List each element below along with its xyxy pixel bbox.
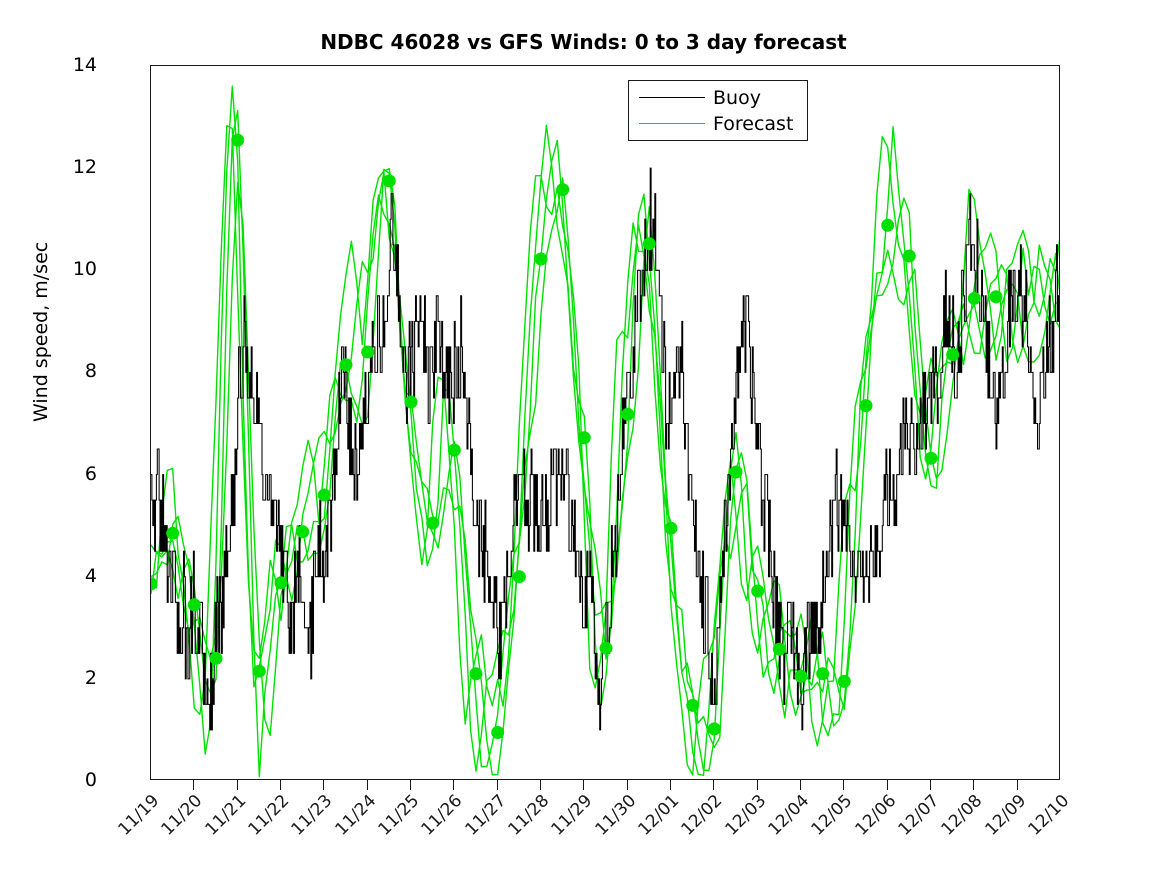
y-tick-label: 2 bbox=[37, 669, 97, 688]
chart-page: NDBC 46028 vs GFS Winds: 0 to 3 day fore… bbox=[0, 0, 1167, 875]
forecast-marker-dot bbox=[708, 722, 721, 735]
y-tick-label: 8 bbox=[37, 362, 97, 381]
x-tick-label: 12/04 bbox=[758, 791, 813, 846]
legend-label-buoy: Buoy bbox=[713, 85, 761, 111]
x-tick-mark bbox=[583, 780, 584, 790]
forecast-marker-dot bbox=[881, 219, 894, 232]
forecast-marker-dot bbox=[816, 667, 829, 680]
x-tick-label: 11/30 bbox=[585, 791, 640, 846]
forecast-marker-dot bbox=[838, 675, 851, 688]
forecast-marker-dot bbox=[621, 408, 634, 421]
forecast-marker-dot bbox=[340, 358, 353, 371]
x-tick-mark bbox=[627, 780, 628, 790]
forecast-marker-dot bbox=[686, 699, 699, 712]
x-tick-mark bbox=[237, 780, 238, 790]
forecast-marker-dot bbox=[491, 726, 504, 739]
x-tick-mark bbox=[843, 780, 844, 790]
x-tick-label: 12/10 bbox=[1018, 791, 1073, 846]
forecast-marker-dot bbox=[946, 348, 959, 361]
y-tick-label: 14 bbox=[37, 56, 97, 75]
forecast-marker-dot bbox=[730, 466, 743, 479]
x-tick-label: 11/19 bbox=[108, 791, 163, 846]
x-tick-mark bbox=[453, 780, 454, 790]
forecast-marker-dot bbox=[643, 237, 656, 250]
x-tick-label: 11/29 bbox=[541, 791, 596, 846]
legend-item-buoy: Buoy bbox=[629, 85, 809, 111]
y-tick-label: 0 bbox=[37, 771, 97, 790]
y-tick-label: 10 bbox=[37, 260, 97, 279]
x-tick-label: 12/05 bbox=[801, 791, 856, 846]
forecast-marker-dot bbox=[405, 396, 418, 409]
x-tick-mark bbox=[1017, 780, 1018, 790]
x-tick-label: 11/21 bbox=[195, 791, 250, 846]
forecast-marker-dot bbox=[903, 250, 916, 263]
forecast-marker-dot bbox=[556, 183, 569, 196]
forecast-marker-dot bbox=[231, 134, 244, 147]
x-tick-label: 11/26 bbox=[411, 791, 466, 846]
x-tick-mark bbox=[497, 780, 498, 790]
x-tick-mark bbox=[800, 780, 801, 790]
x-tick-mark bbox=[410, 780, 411, 790]
forecast-marker-dot bbox=[361, 346, 374, 359]
x-tick-label: 12/08 bbox=[931, 791, 986, 846]
forecast-marker-dot bbox=[275, 576, 288, 589]
x-tick-mark bbox=[930, 780, 931, 790]
x-tick-label: 12/07 bbox=[888, 791, 943, 846]
y-tick-label: 12 bbox=[37, 158, 97, 177]
x-tick-mark bbox=[280, 780, 281, 790]
forecast-marker-dot bbox=[968, 292, 981, 305]
legend-label-forecast: Forecast bbox=[713, 111, 793, 137]
x-tick-mark bbox=[973, 780, 974, 790]
x-tick-mark bbox=[887, 780, 888, 790]
x-tick-mark bbox=[757, 780, 758, 790]
x-tick-label: 11/27 bbox=[455, 791, 510, 846]
forecast-marker-dot bbox=[535, 253, 548, 266]
x-tick-mark bbox=[670, 780, 671, 790]
forecast-marker-dot bbox=[513, 570, 526, 583]
plot-svg bbox=[151, 66, 1060, 780]
x-tick-label: 12/09 bbox=[975, 791, 1030, 846]
x-tick-mark bbox=[193, 780, 194, 790]
forecast-marker-dot bbox=[600, 642, 613, 655]
forecast-marker-dot bbox=[426, 517, 439, 530]
x-tick-label: 11/23 bbox=[281, 791, 336, 846]
plot-area bbox=[150, 65, 1060, 780]
forecast-marker-dot bbox=[448, 444, 461, 457]
forecast-marker-dot bbox=[578, 431, 591, 444]
forecast-marker-dot bbox=[470, 667, 483, 680]
x-tick-label: 11/24 bbox=[325, 791, 380, 846]
forecast-lines bbox=[151, 86, 1060, 776]
forecast-marker-dot bbox=[990, 290, 1003, 303]
forecast-marker-dot bbox=[296, 525, 309, 538]
x-tick-mark bbox=[323, 780, 324, 790]
forecast-marker-dot bbox=[383, 174, 396, 187]
x-tick-label: 12/03 bbox=[715, 791, 770, 846]
x-tick-mark bbox=[540, 780, 541, 790]
x-tick-label: 11/20 bbox=[151, 791, 206, 846]
x-tick-label: 11/28 bbox=[498, 791, 553, 846]
forecast-marker-dot bbox=[751, 585, 764, 598]
x-tick-label: 11/25 bbox=[368, 791, 423, 846]
forecast-marker-dot bbox=[860, 399, 873, 412]
forecast-marker-dot bbox=[665, 522, 678, 535]
forecast-marker-dot bbox=[773, 643, 786, 656]
legend-swatch-buoy bbox=[639, 97, 705, 98]
x-tick-label: 12/06 bbox=[845, 791, 900, 846]
y-tick-label: 6 bbox=[37, 465, 97, 484]
x-tick-mark bbox=[367, 780, 368, 790]
forecast-marker-dot bbox=[253, 665, 266, 678]
x-tick-label: 12/01 bbox=[628, 791, 683, 846]
forecast-marker-dot bbox=[795, 670, 808, 683]
x-tick-label: 12/02 bbox=[671, 791, 726, 846]
forecast-marker-dot bbox=[925, 452, 938, 465]
x-tick-label: 11/22 bbox=[238, 791, 293, 846]
y-tick-label: 4 bbox=[37, 567, 97, 586]
x-tick-mark bbox=[713, 780, 714, 790]
forecast-marker-dot bbox=[318, 489, 331, 502]
legend: Buoy Forecast bbox=[628, 80, 808, 141]
forecast-marker-dot bbox=[166, 527, 179, 540]
legend-swatch-forecast bbox=[639, 123, 705, 124]
forecast-marker-dot bbox=[188, 598, 201, 611]
forecast-marker-dot bbox=[210, 652, 223, 665]
legend-item-forecast: Forecast bbox=[629, 111, 809, 137]
chart-title: NDBC 46028 vs GFS Winds: 0 to 3 day fore… bbox=[0, 30, 1167, 54]
